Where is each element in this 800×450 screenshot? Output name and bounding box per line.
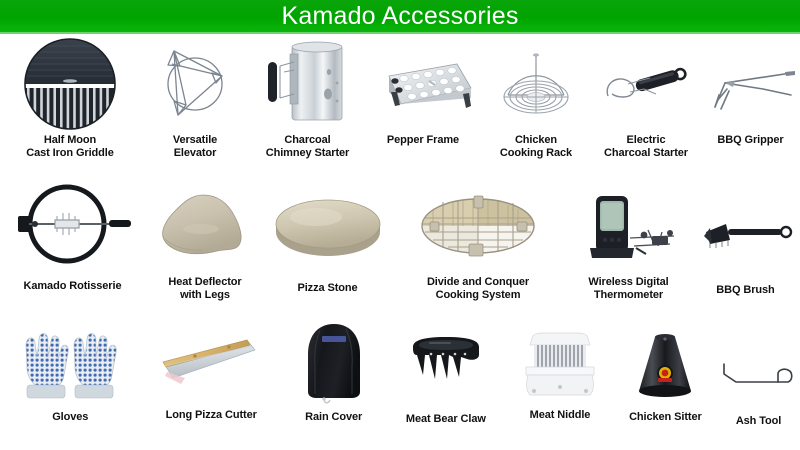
- pizza-stone-icon: [265, 174, 390, 274]
- kamado-accessories-page: Kamado Accessories: [0, 0, 800, 450]
- product-cell-rain-cover[interactable]: Rain Cover: [282, 319, 385, 450]
- product-cell-charcoal-chimney-starter[interactable]: Charcoal Chimney Starter: [250, 34, 365, 174]
- product-label: Wireless Digital Thermometer: [588, 276, 668, 302]
- product-label: Ash Tool: [736, 415, 781, 428]
- page-title: Kamado Accessories: [281, 4, 518, 29]
- divide-and-conquer-cooking-system-icon: [390, 174, 566, 274]
- product-cell-half-moon-cast-iron-griddle[interactable]: Half Moon Cast Iron Griddle: [0, 34, 140, 174]
- product-cell-heat-deflector-with-legs[interactable]: Heat Deflector with Legs: [145, 174, 265, 319]
- half-moon-cast-iron-griddle-icon: [0, 34, 140, 134]
- product-label: Chicken Sitter: [629, 411, 702, 424]
- long-pizza-cutter-icon: [140, 319, 281, 407]
- product-label: Long Pizza Cutter: [166, 409, 257, 422]
- product-cell-divide-and-conquer-cooking-system[interactable]: Divide and Conquer Cooking System: [390, 174, 566, 319]
- product-cell-pizza-stone[interactable]: Pizza Stone: [265, 174, 390, 319]
- product-label: Versatile Elevator: [173, 134, 217, 160]
- product-cell-bbq-gripper[interactable]: BBQ Gripper: [701, 34, 800, 174]
- kamado-rotisserie-icon: [0, 174, 145, 274]
- product-label: Electric Charcoal Starter: [604, 134, 688, 160]
- pepper-frame-icon: [365, 34, 481, 134]
- product-cell-meat-niddle[interactable]: Meat Niddle: [506, 319, 613, 450]
- product-row: Gloves: [0, 319, 800, 450]
- product-row: Half Moon Cast Iron Griddle: [0, 34, 800, 174]
- meat-niddle-icon: [506, 319, 613, 407]
- versatile-elevator-icon: [140, 34, 250, 134]
- bbq-brush-icon: [691, 174, 800, 274]
- meat-bear-claw-icon: [385, 319, 506, 407]
- wireless-digital-thermometer-icon: [566, 174, 691, 274]
- product-cell-chicken-cooking-rack[interactable]: Chicken Cooking Rack: [481, 34, 591, 174]
- product-cell-bbq-brush[interactable]: BBQ Brush: [691, 174, 800, 319]
- chicken-sitter-icon: [614, 319, 717, 407]
- product-label: Meat Niddle: [530, 409, 591, 422]
- product-label: Charcoal Chimney Starter: [266, 134, 349, 160]
- page-header: Kamado Accessories: [0, 0, 800, 34]
- chicken-cooking-rack-icon: [481, 34, 591, 134]
- product-label: Gloves: [52, 411, 88, 424]
- product-cell-versatile-elevator[interactable]: Versatile Elevator: [140, 34, 250, 174]
- rain-cover-icon: [282, 319, 385, 407]
- gloves-icon: [0, 319, 140, 407]
- product-label: Meat Bear Claw: [406, 413, 486, 426]
- product-label: Chicken Cooking Rack: [500, 134, 572, 160]
- heat-deflector-with-legs-icon: [145, 174, 265, 274]
- product-label: Kamado Rotisserie: [24, 280, 122, 293]
- product-grid: Half Moon Cast Iron Griddle: [0, 34, 800, 450]
- product-label: BBQ Gripper: [717, 134, 783, 147]
- product-cell-gloves[interactable]: Gloves: [0, 319, 140, 450]
- product-cell-electric-charcoal-starter[interactable]: Electric Charcoal Starter: [591, 34, 701, 174]
- product-cell-kamado-rotisserie[interactable]: Kamado Rotisserie: [0, 174, 145, 319]
- product-cell-meat-bear-claw[interactable]: Meat Bear Claw: [385, 319, 506, 450]
- product-label: Pizza Stone: [297, 282, 357, 295]
- product-label: Rain Cover: [305, 411, 362, 424]
- product-cell-wireless-digital-thermometer[interactable]: Wireless Digital Thermometer: [566, 174, 691, 319]
- product-label: Half Moon Cast Iron Griddle: [26, 134, 114, 160]
- electric-charcoal-starter-icon: [591, 34, 701, 134]
- product-cell-chicken-sitter[interactable]: Chicken Sitter: [614, 319, 717, 450]
- bbq-gripper-icon: [701, 34, 800, 134]
- product-cell-long-pizza-cutter[interactable]: Long Pizza Cutter: [140, 319, 281, 450]
- product-label: BBQ Brush: [716, 284, 774, 297]
- product-label: Heat Deflector with Legs: [168, 276, 241, 302]
- charcoal-chimney-starter-icon: [250, 34, 365, 134]
- product-row: Kamado Rotisserie: [0, 174, 800, 319]
- product-label: Divide and Conquer Cooking System: [427, 276, 529, 302]
- ash-tool-icon: [717, 319, 800, 407]
- product-label: Pepper Frame: [387, 134, 459, 147]
- product-cell-pepper-frame[interactable]: Pepper Frame: [365, 34, 481, 174]
- product-cell-ash-tool[interactable]: Ash Tool: [717, 319, 800, 450]
